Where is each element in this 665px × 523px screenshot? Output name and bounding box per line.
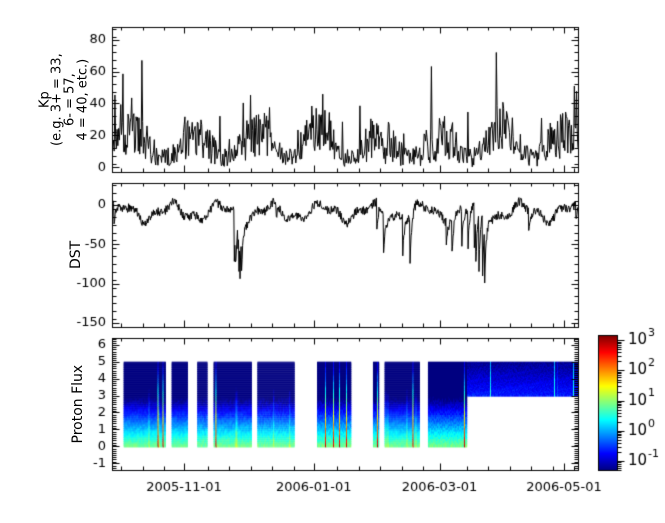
multi-panel-plot-canvas [0,0,665,523]
figure-root: Kp (e.g. 3+ = 33, 6- = 57, 4 = 40, etc.)… [0,0,665,523]
